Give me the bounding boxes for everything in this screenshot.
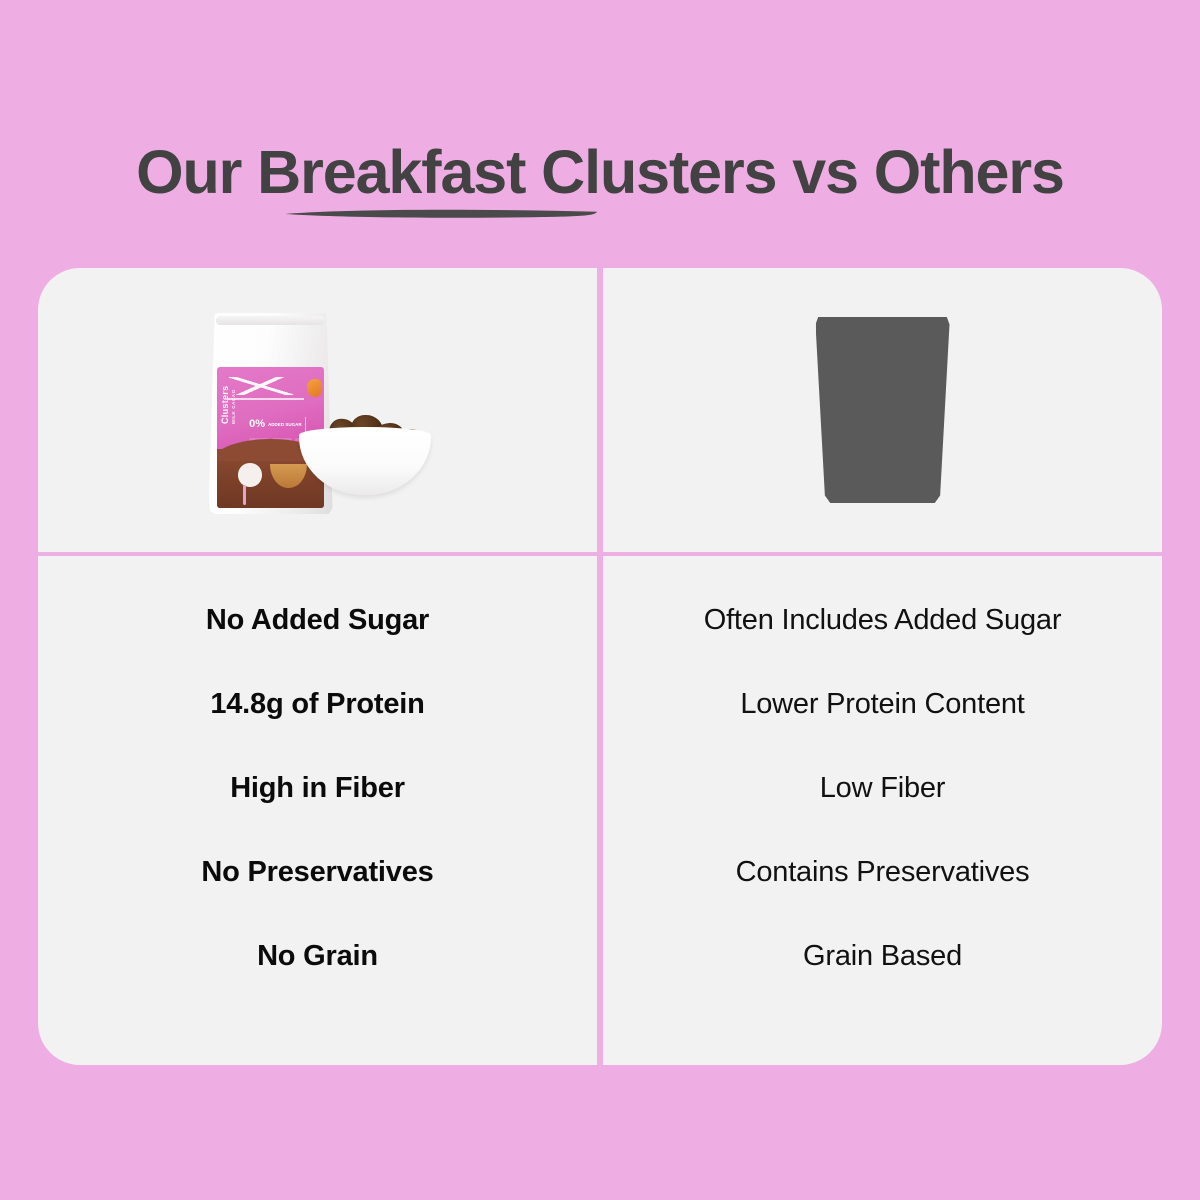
feature-row: Often Includes Added Sugar	[603, 578, 1162, 662]
feature-label: No Added Sugar	[206, 604, 429, 637]
feature-label: No Preservatives	[201, 856, 433, 889]
feature-label: Contains Preservatives	[736, 856, 1030, 889]
bowl-body	[299, 433, 431, 495]
feature-label: No Grain	[257, 940, 378, 973]
brand-tagline-rule	[227, 398, 304, 400]
feature-row: High in Fiber	[38, 746, 597, 830]
title-underline-stroke	[283, 208, 601, 219]
pouch-top-seal	[216, 316, 325, 325]
header: Our Breakfast Clusters vs Others	[0, 140, 1200, 204]
feature-row: No Added Sugar	[38, 578, 597, 662]
page-title: Our Breakfast Clusters vs Others	[0, 140, 1200, 204]
generic-competitor-pouch-silhouette	[816, 317, 950, 503]
cluster-bowl	[299, 415, 431, 495]
badge-value: 0%	[249, 419, 265, 430]
ours-image-cell: Clusters MILK CACAO 0% ADDED SUGAR	[38, 268, 597, 552]
brand-script-logo	[228, 377, 294, 395]
mango-graphic-icon	[307, 379, 322, 397]
feature-row: Lower Protein Content	[603, 662, 1162, 746]
comparison-card: Clusters MILK CACAO 0% ADDED SUGAR	[38, 268, 1162, 1065]
product-name-vertical: Clusters	[220, 385, 230, 423]
others-feature-list: Often Includes Added Sugar Lower Protein…	[603, 556, 1162, 1065]
breakfast-clusters-product-photo: Clusters MILK CACAO 0% ADDED SUGAR	[183, 295, 453, 525]
feature-row: No Preservatives	[38, 830, 597, 914]
others-image-cell	[603, 268, 1162, 552]
feature-label: Often Includes Added Sugar	[704, 604, 1062, 637]
feature-label: 14.8g of Protein	[210, 688, 424, 721]
feature-row: Low Fiber	[603, 746, 1162, 830]
badge-label: ADDED SUGAR	[268, 422, 302, 427]
ours-feature-list: No Added Sugar 14.8g of Protein High in …	[38, 556, 597, 1065]
feature-row: Contains Preservatives	[603, 830, 1162, 914]
label-seal-circle	[238, 463, 261, 486]
feature-row: 14.8g of Protein	[38, 662, 597, 746]
feature-label: High in Fiber	[230, 772, 405, 805]
feature-label: Lower Protein Content	[740, 688, 1024, 721]
label-spoon-art	[243, 485, 246, 505]
feature-label: Low Fiber	[820, 772, 946, 805]
feature-label: Grain Based	[803, 940, 962, 973]
product-flavor-vertical: MILK CACAO	[231, 389, 236, 424]
feature-row: No Grain	[38, 914, 597, 998]
feature-row: Grain Based	[603, 914, 1162, 998]
